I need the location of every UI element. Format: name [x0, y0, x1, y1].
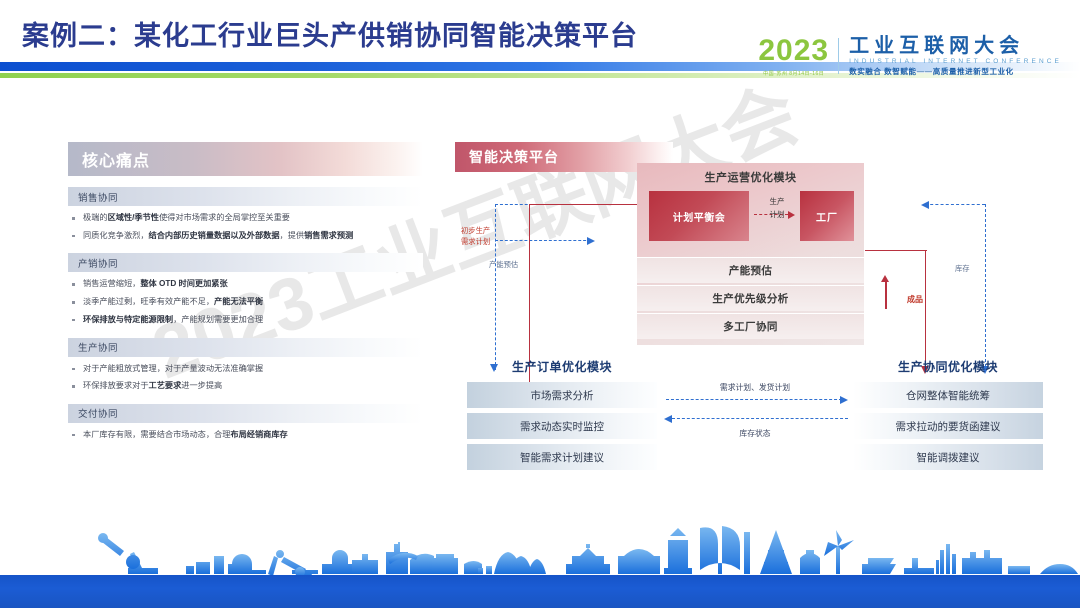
bullet-list-delivery: 本厂库存有限，需要结合市场动态，合理布局经销商库存 [68, 429, 423, 442]
module-row-capacity[interactable]: 产能预估 [637, 257, 864, 283]
module-item-demand-plan-advice[interactable]: 智能需求计划建议 [467, 444, 657, 470]
section-label-production: 生产协同 [68, 338, 423, 357]
logo-year: 2023 [758, 36, 829, 66]
section-label-delivery: 交付协同 [68, 404, 423, 423]
red-flow-path-left [529, 204, 639, 384]
blue-flow-path-right [925, 204, 987, 372]
blue-right-vertical-segment [985, 204, 986, 372]
list-item: 对于产能粗放式管理，对于产量波动无法准确掌握 [68, 363, 423, 376]
list-item: 环保排放与特定能源限制，产能规划需要更加合理 [68, 314, 423, 327]
pain-points-panel: 核心痛点 销售协同 极端的区域性/季节性使得对市场需求的全局掌控至关重要 同质化… [68, 142, 423, 447]
flow-label-demand-shipping-plan: 需求计划、发货计划 [660, 382, 850, 393]
module-title: 生产运营优化模块 [637, 169, 864, 185]
arrow-head-icon [664, 415, 672, 423]
flow-label-inventory: 库存 [955, 264, 970, 274]
slide-footer [0, 528, 1080, 608]
flow-label-finished-goods: 成品 [907, 294, 923, 305]
pain-points-heading: 核心痛点 [68, 142, 423, 176]
red-right-top-segment [865, 250, 927, 251]
red-path-left-segment [529, 204, 530, 384]
flow-label-initial-plan: 初步生产需求计划 [461, 226, 490, 247]
capacity-up-arrow [881, 275, 890, 309]
arrow-line [885, 281, 887, 309]
logo-date-location: 中国·苏州 8月14日-16日 [763, 70, 824, 77]
module-row-multifactory[interactable]: 多工厂协同 [637, 313, 864, 339]
footer-blue-band [0, 575, 1080, 608]
list-item: 淡季产能过剩，旺季有效产能不足，产能无法平衡 [68, 296, 423, 309]
slide-root: 案例二：某化工行业巨头产供销协同智能决策平台 2023 中国·苏州 8月14日-… [0, 0, 1080, 608]
red-right-vertical-segment [925, 250, 926, 372]
production-collaboration-module: 生产协同优化模块 仓网整体智能统筹 需求拉动的要货函建议 智能调拨建议 [853, 358, 1043, 475]
red-flow-path-right [865, 250, 927, 372]
list-item: 本厂库存有限，需要结合市场动态，合理布局经销商库存 [68, 429, 423, 442]
module-item-demand-monitoring[interactable]: 需求动态实时监控 [467, 413, 657, 439]
blue-right-top-segment [925, 204, 985, 205]
arrow-line [672, 418, 848, 419]
plan-balance-box[interactable]: 计划平衡会 [649, 191, 749, 241]
module-title: 生产订单优化模块 [467, 358, 657, 375]
flow-label-inventory-status: 库存状态 [660, 428, 850, 439]
page-title: 案例二：某化工行业巨头产供销协同智能决策平台 [22, 14, 638, 53]
arrow-head-icon [840, 396, 848, 404]
logo-name-block: 工业互联网大会 INDUSTRIAL INTERNET CONFERENCE 数… [839, 35, 1062, 77]
red-path-top-segment [529, 204, 639, 205]
module-item-smart-allocation[interactable]: 智能调拨建议 [853, 444, 1043, 470]
module-item-warehouse-network[interactable]: 仓网整体智能统筹 [853, 382, 1043, 408]
module-item-demand-pull-letter[interactable]: 需求拉动的要货函建议 [853, 413, 1043, 439]
list-item: 极端的区域性/季节性使得对市场需求的全局掌控至关重要 [68, 212, 423, 225]
logo-title-en: INDUSTRIAL INTERNET CONFERENCE [849, 57, 1062, 67]
section-label-production-sales: 产销协同 [68, 253, 423, 272]
list-item: 同质化竞争激烈，结合内部历史销量数据以及外部数据，提供销售需求预测 [68, 230, 423, 243]
slide-header: 案例二：某化工行业巨头产供销协同智能决策平台 2023 中国·苏州 8月14日-… [0, 0, 1080, 92]
bullet-list-production: 对于产能粗放式管理，对于产量波动无法准确掌握 环保排放要求对于工艺要求进一步提高 [68, 363, 423, 393]
module-item-market-demand[interactable]: 市场需求分析 [467, 382, 657, 408]
logo-tagline: 数实融合 数智赋能——高质量推进新型工业化 [849, 67, 1062, 78]
decision-platform-diagram: 智能决策平台 产能预估 初步生产需求计划 库存 [455, 138, 1065, 498]
blue-right-arrow-left [921, 201, 929, 209]
city-skyline-illustration [0, 524, 1080, 580]
middle-flow-arrows: 需求计划、发货计划 库存状态 [660, 382, 850, 444]
flow-label-capacity: 产能预估 [489, 260, 518, 270]
arrow-line [666, 399, 842, 400]
list-item: 销售运营缩短，整体 OTD 时间更加紧张 [68, 278, 423, 291]
bullet-list-sales: 极端的区域性/季节性使得对市场需求的全局掌控至关重要 同质化竞争激烈，结合内部历… [68, 212, 423, 242]
production-plan-label: 生产计划 [757, 196, 797, 222]
blue-path-left-segment [495, 204, 496, 370]
module-row-priority[interactable]: 生产优先级分析 [637, 285, 864, 311]
production-operation-module: 生产运营优化模块 计划平衡会 工厂 生产计划 产能预估 生产优先级分析 多工厂协… [637, 163, 864, 345]
logo-year-block: 2023 中国·苏州 8月14日-16日 [758, 36, 838, 77]
conference-logo: 2023 中国·苏州 8月14日-16日 工业互联网大会 INDUSTRIAL … [758, 32, 1062, 80]
production-order-module: 生产订单优化模块 市场需求分析 需求动态实时监控 智能需求计划建议 [467, 358, 657, 475]
factory-box[interactable]: 工厂 [800, 191, 854, 241]
logo-title-cn: 工业互联网大会 [849, 35, 1062, 57]
section-label-sales: 销售协同 [68, 187, 423, 206]
bullet-list-production-sales: 销售运营缩短，整体 OTD 时间更加紧张 淡季产能过剩，旺季有效产能不足，产能无… [68, 278, 423, 326]
module-title: 生产协同优化模块 [853, 358, 1043, 375]
list-item: 环保排放要求对于工艺要求进一步提高 [68, 380, 423, 393]
